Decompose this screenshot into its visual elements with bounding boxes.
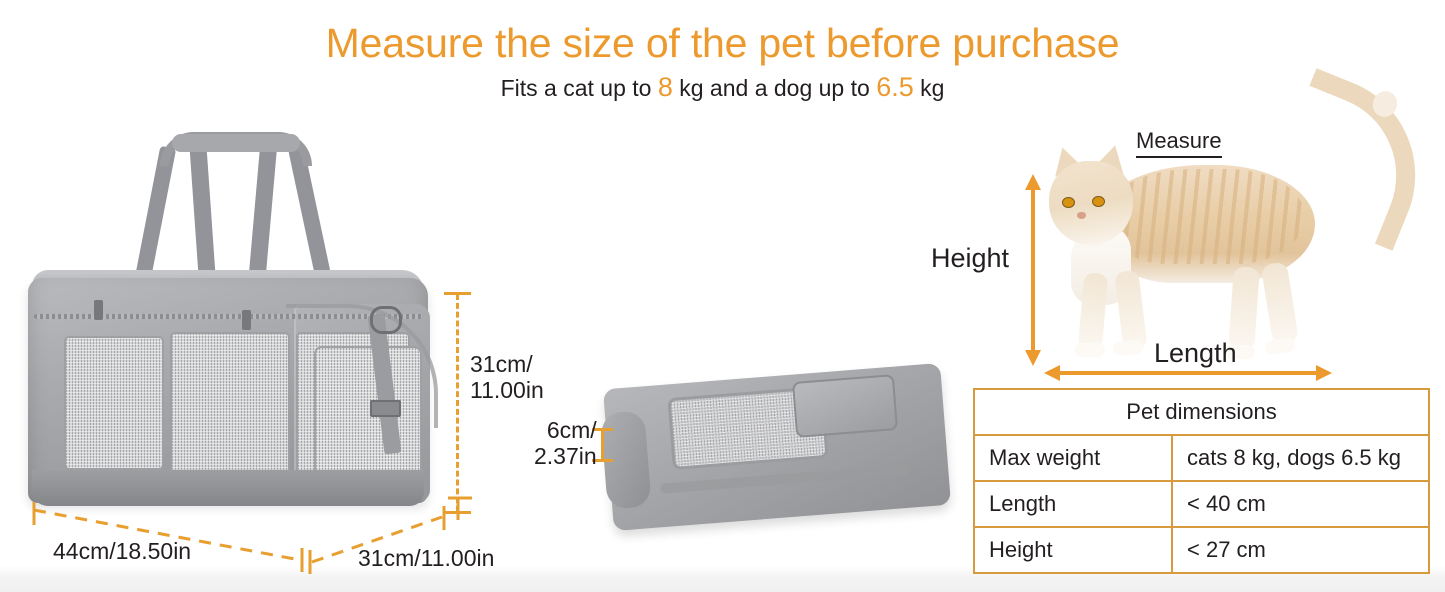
- carrier-zipper-pull: [94, 300, 103, 320]
- carrier-width-label: 44cm/18.50in: [53, 538, 191, 564]
- carrier-depth-dimension-svg: [290, 490, 530, 590]
- table-cell-value: < 27 cm: [1172, 527, 1429, 573]
- table-row: Height < 27 cm: [974, 527, 1429, 573]
- folded-thickness-line: [601, 430, 604, 460]
- carrier-strap-clip: [370, 306, 402, 334]
- cat-nose: [1077, 212, 1086, 219]
- cat-paw: [1264, 337, 1296, 355]
- carrier-height-label: 31cm/ 11.00in: [470, 351, 544, 403]
- carrier-handle-grip: [172, 134, 300, 152]
- carrier-mesh-panel: [170, 332, 290, 476]
- table-cell-value: cats 8 kg, dogs 6.5 kg: [1172, 435, 1429, 481]
- table-row: Length < 40 cm: [974, 481, 1429, 527]
- table-cell-key: Max weight: [974, 435, 1172, 481]
- folded-thickness-label: 6cm/ 2.37in: [534, 417, 597, 469]
- subtitle-dog-weight: 6.5: [876, 72, 914, 102]
- arrow-head-down: [1025, 350, 1041, 366]
- cat-photo: [1035, 95, 1430, 365]
- table-cell-key: Length: [974, 481, 1172, 527]
- table-header-row: Pet dimensions: [974, 389, 1429, 435]
- cat-height-arrow: [1018, 172, 1052, 370]
- carrier-strap-buckle: [370, 400, 401, 417]
- arrow-head-up: [1025, 174, 1041, 190]
- subtitle-text-3: kg: [914, 75, 945, 101]
- carrier-height-dimension-line: [456, 294, 459, 512]
- infographic-root: Measure the size of the pet before purch…: [0, 0, 1445, 592]
- arrow-head-left: [1044, 365, 1060, 381]
- carrier-mesh-panel: [64, 336, 164, 470]
- measure-caption: Measure: [1136, 128, 1222, 158]
- subtitle-text-1: Fits a cat up to: [501, 75, 658, 101]
- carrier-zipper-pull: [242, 310, 251, 330]
- table-cell-key: Height: [974, 527, 1172, 573]
- cat-height-label: Height: [931, 243, 1009, 273]
- cat-eye: [1062, 197, 1075, 208]
- cat-leg: [1261, 261, 1300, 346]
- cat-eye: [1092, 196, 1105, 207]
- subtitle-text-2: kg and a dog up to: [673, 75, 876, 101]
- folded-carrier-image: [608, 370, 953, 535]
- pet-carrier-image: [18, 118, 438, 518]
- cat-fur-stripes: [1105, 169, 1305, 264]
- subtitle-cat-weight: 8: [658, 72, 673, 102]
- cat-paw: [1112, 339, 1143, 356]
- folded-pocket: [792, 374, 898, 438]
- cat-paw: [1075, 343, 1105, 357]
- cat-length-label: Length: [1154, 338, 1237, 368]
- page-title: Measure the size of the pet before purch…: [0, 20, 1445, 67]
- arrow-head-right: [1316, 365, 1332, 381]
- table-header-label: Pet dimensions: [974, 389, 1429, 435]
- pet-dimensions-table: Pet dimensions Max weight cats 8 kg, dog…: [973, 388, 1430, 574]
- table-cell-value: < 40 cm: [1172, 481, 1429, 527]
- table-row: Max weight cats 8 kg, dogs 6.5 kg: [974, 435, 1429, 481]
- carrier-depth-label: 31cm/11.00in: [358, 545, 494, 571]
- carrier-height-cap-top: [444, 292, 471, 295]
